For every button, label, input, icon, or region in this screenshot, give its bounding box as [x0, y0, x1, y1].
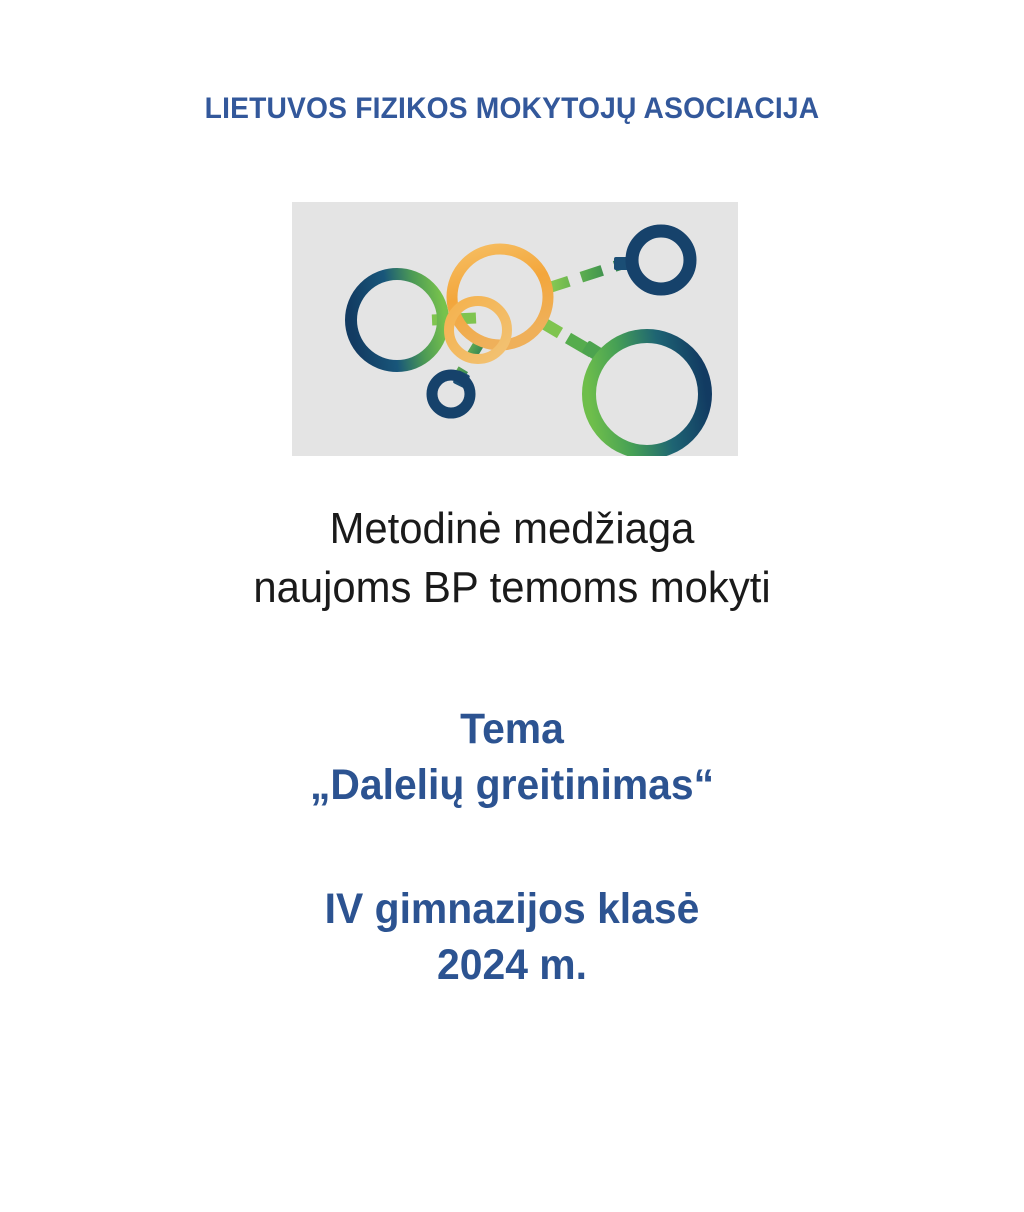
network-nodes-logo-icon: [292, 202, 738, 456]
topic-section: Tema „Dalelių greitinimas“: [26, 702, 999, 814]
class-year: 2024 m.: [26, 938, 999, 994]
class-grade: IV gimnazijos klasė: [26, 882, 999, 938]
class-section: IV gimnazijos klasė 2024 m.: [26, 882, 999, 994]
topic-title: „Dalelių greitinimas“: [26, 758, 999, 814]
subtitle-line-2: naujoms BP temoms mokyti: [26, 559, 999, 618]
title-slide: LIETUVOS FIZIKOS MOKYTOJŲ ASOCIACIJA: [0, 0, 1024, 1212]
logo-panel: [292, 202, 738, 456]
subtitle: Metodinė medžiaga naujoms BP temoms moky…: [26, 500, 999, 618]
topic-label: Tema: [26, 702, 999, 758]
organization-title: LIETUVOS FIZIKOS MOKYTOJŲ ASOCIACIJA: [31, 92, 994, 125]
subtitle-line-1: Metodinė medžiaga: [26, 500, 999, 559]
